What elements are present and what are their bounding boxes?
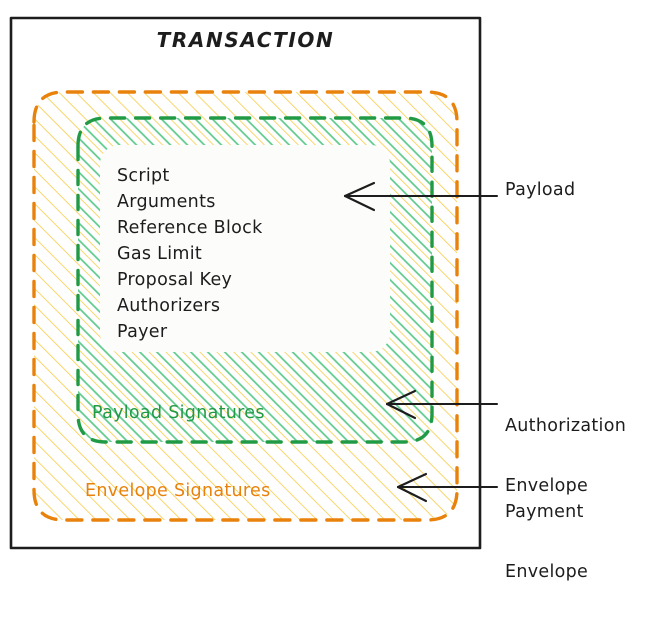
payload-field-gas-limit: Gas Limit [117,241,263,267]
payload-signatures-label: Payload Signatures [92,405,265,423]
payment-envelope-label-line1: Payment [505,500,588,525]
payment-envelope-label-line2: Envelope [505,560,588,585]
payload-annotation-label: Payload [505,182,575,200]
page-title: TRANSACTION [0,30,491,50]
payload-field-script: Script [117,163,263,189]
authorization-envelope-label-line1: Authorization [505,414,626,439]
payment-envelope-annotation-label: Payment Envelope [505,465,588,620]
envelope-signatures-label: Envelope Signatures [85,483,271,501]
payload-field-authorizers: Authorizers [117,293,263,319]
payload-field-reference-block: Reference Block [117,215,263,241]
payload-field-proposal-key: Proposal Key [117,267,263,293]
diagram-canvas: TRANSACTION Script Arguments Reference B… [0,0,664,569]
payload-field-list: Script Arguments Reference Block Gas Lim… [117,163,263,345]
payload-field-payer: Payer [117,319,263,345]
payload-field-arguments: Arguments [117,189,263,215]
